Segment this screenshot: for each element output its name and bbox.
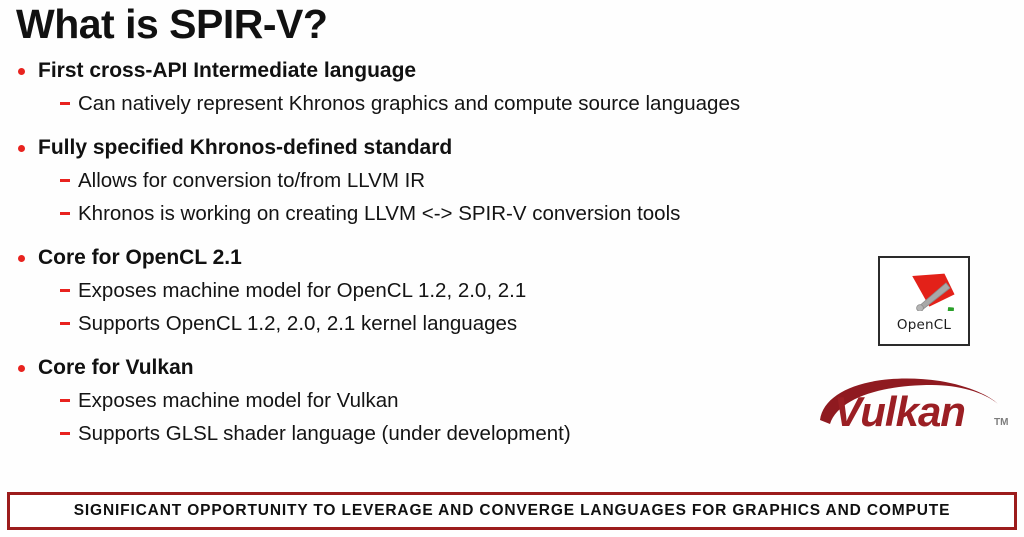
bullet-level2-label: Exposes machine model for OpenCL 1.2, 2.… xyxy=(78,279,526,302)
opencl-logo: OpenCL xyxy=(878,256,970,346)
bullet-dot-icon xyxy=(18,255,25,262)
svg-text:TM: TM xyxy=(994,417,1008,428)
vulkan-logo: Vulkan TM xyxy=(818,376,1018,438)
bullet-dash-icon xyxy=(60,212,70,215)
bullet-level2-label: Allows for conversion to/from LLVM IR xyxy=(78,169,425,192)
footer-banner-text: SIGNIFICANT OPPORTUNITY TO LEVERAGE AND … xyxy=(74,502,951,520)
bullet-level1-label: Fully specified Khronos-defined standard xyxy=(38,136,452,159)
bullet-level2: Allows for conversion to/from LLVM IR xyxy=(16,165,916,196)
bullet-level2: Supports GLSL shader language (under dev… xyxy=(16,418,916,449)
bullet-level1: Core for Vulkan xyxy=(16,353,916,383)
footer-banner: SIGNIFICANT OPPORTUNITY TO LEVERAGE AND … xyxy=(7,492,1017,530)
bullet-level1-label: Core for OpenCL 2.1 xyxy=(38,246,242,269)
bullet-level2: Supports OpenCL 1.2, 2.0, 2.1 kernel lan… xyxy=(16,308,916,339)
opencl-gauge-icon xyxy=(888,267,960,311)
bullet-level2: Can natively represent Khronos graphics … xyxy=(16,88,916,119)
bullet-list: First cross-API Intermediate language Ca… xyxy=(16,56,916,449)
bullet-dash-icon xyxy=(60,322,70,325)
bullet-level1: First cross-API Intermediate language xyxy=(16,56,916,86)
bullet-dot-icon xyxy=(18,68,25,75)
bullet-level2-label: Supports GLSL shader language (under dev… xyxy=(78,422,571,445)
bullet-dash-icon xyxy=(60,102,70,105)
bullet-level2-label: Khronos is working on creating LLVM <-> … xyxy=(78,202,680,225)
bullet-level2-label: Exposes machine model for Vulkan xyxy=(78,389,399,412)
bullet-level1-label: Core for Vulkan xyxy=(38,356,194,379)
svg-text:Vulkan: Vulkan xyxy=(834,388,965,435)
bullet-dash-icon xyxy=(60,179,70,182)
bullet-dash-icon xyxy=(60,399,70,402)
bullet-level2: Exposes machine model for OpenCL 1.2, 2.… xyxy=(16,275,916,306)
bullet-level2: Khronos is working on creating LLVM <-> … xyxy=(16,198,916,229)
vulkan-wordmark-icon: Vulkan TM xyxy=(818,376,1018,438)
bullet-dash-icon xyxy=(60,432,70,435)
bullet-level1: Fully specified Khronos-defined standard xyxy=(16,133,916,163)
slide-root: What is SPIR-V? First cross-API Intermed… xyxy=(0,0,1024,537)
bullet-level2-label: Supports OpenCL 1.2, 2.0, 2.1 kernel lan… xyxy=(78,312,517,335)
bullet-level1: Core for OpenCL 2.1 xyxy=(16,243,916,273)
bullet-dot-icon xyxy=(18,145,25,152)
bullet-dash-icon xyxy=(60,289,70,292)
bullet-level2: Exposes machine model for Vulkan xyxy=(16,385,916,416)
bullet-level1-label: First cross-API Intermediate language xyxy=(38,59,416,82)
bullet-level2-label: Can natively represent Khronos graphics … xyxy=(78,92,740,115)
bullet-dot-icon xyxy=(18,365,25,372)
opencl-label: OpenCL xyxy=(897,317,951,333)
page-title: What is SPIR-V? xyxy=(16,0,327,50)
